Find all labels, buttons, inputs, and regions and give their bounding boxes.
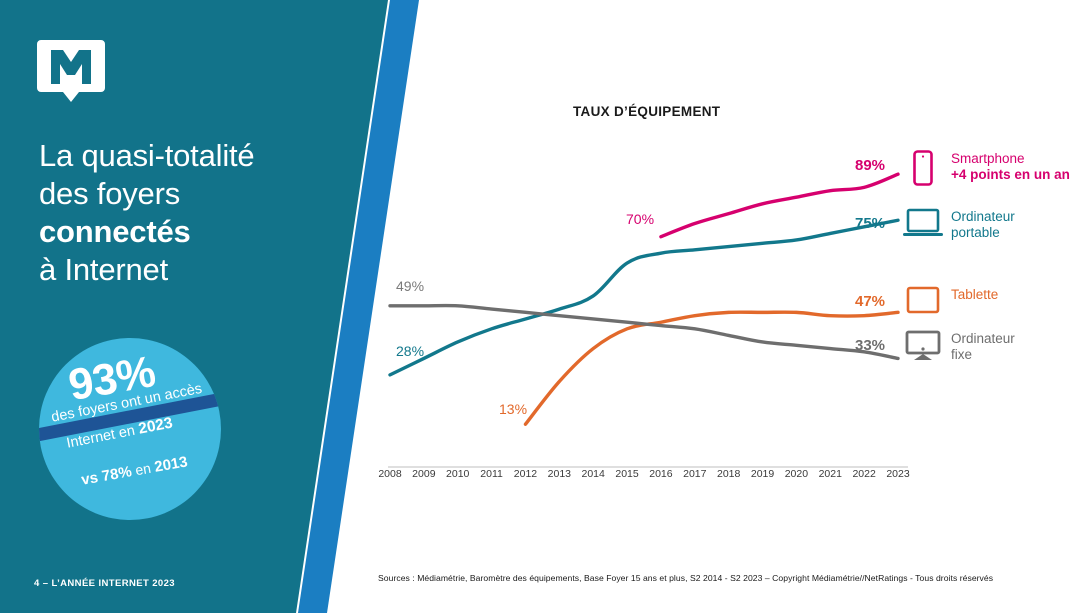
badge-line-3-prefix: vs bbox=[80, 468, 103, 488]
slide-number: 4 – L’ANNÉE INTERNET 2023 bbox=[34, 578, 175, 589]
headline-line-3: connectés bbox=[39, 213, 339, 251]
x-tick-label: 2023 bbox=[886, 468, 909, 480]
x-tick-label: 2016 bbox=[649, 468, 672, 480]
annotation-tablet-start: 13% bbox=[499, 401, 527, 417]
badge-line-3-year: 2013 bbox=[153, 453, 189, 476]
legend-item-tablet[interactable]: 47% Tablette bbox=[855, 284, 998, 314]
legend-value-laptop: 75% bbox=[855, 206, 901, 232]
legend-label-smartphone-sub: +4 points en un an bbox=[951, 167, 1070, 182]
x-tick-label: 2020 bbox=[785, 468, 808, 480]
legend-item-desktop[interactable]: 33% Ordinateur fixe bbox=[855, 328, 1015, 363]
legend-item-laptop[interactable]: 75% Ordinateur portable bbox=[855, 206, 1015, 241]
legend-label-desktop-line1: Ordinateur bbox=[951, 331, 1015, 347]
page-title: La quasi-totalité des foyers connectés à… bbox=[39, 137, 339, 289]
badge-text-group: 93% des foyers ont un accès Internet en … bbox=[39, 338, 221, 520]
slide-canvas: La quasi-totalité des foyers connectés à… bbox=[0, 0, 1091, 613]
chart-x-axis-labels: 2008200920102011201220132014201520162017… bbox=[380, 468, 910, 486]
x-tick-label: 2010 bbox=[446, 468, 469, 480]
x-tick-label: 2015 bbox=[615, 468, 638, 480]
x-tick-label: 2019 bbox=[751, 468, 774, 480]
headline-line-4: à Internet bbox=[39, 251, 339, 289]
laptop-icon bbox=[901, 206, 945, 238]
chart-title: TAUX D’ÉQUIPEMENT bbox=[573, 104, 720, 119]
x-tick-label: 2013 bbox=[548, 468, 571, 480]
legend-value-tablet: 47% bbox=[855, 284, 901, 310]
legend-label-laptop: Ordinateur portable bbox=[945, 206, 1015, 241]
badge-line-2-year: 2023 bbox=[137, 414, 174, 437]
sources-note: Sources : Médiamétrie, Baromètre des équ… bbox=[378, 573, 993, 583]
x-tick-label: 2012 bbox=[514, 468, 537, 480]
legend-label-laptop-line2: portable bbox=[951, 225, 1015, 241]
legend-label-tablet-main: Tablette bbox=[951, 287, 998, 303]
annotation-smartphone-start: 70% bbox=[626, 211, 654, 227]
x-tick-label: 2021 bbox=[819, 468, 842, 480]
x-tick-label: 2017 bbox=[683, 468, 706, 480]
x-tick-label: 2011 bbox=[480, 468, 503, 480]
badge-line-3: vs 78% en 2013 bbox=[80, 453, 189, 488]
legend-label-smartphone: Smartphone +4 points en un an bbox=[945, 148, 1070, 183]
chart-line-ordinateur-portable bbox=[390, 220, 898, 375]
line-chart bbox=[380, 130, 910, 490]
legend-label-desktop-line2: fixe bbox=[951, 347, 1015, 363]
mediametrie-logo bbox=[37, 36, 105, 106]
legend-label-smartphone-main: Smartphone bbox=[951, 151, 1070, 167]
legend-label-laptop-line1: Ordinateur bbox=[951, 209, 1015, 225]
legend-label-tablet: Tablette bbox=[945, 284, 998, 303]
badge-line-3-middle: en bbox=[130, 459, 156, 479]
headline-line-1: La quasi-totalité bbox=[39, 137, 339, 175]
legend-value-smartphone: 89% bbox=[855, 148, 901, 174]
legend-item-smartphone[interactable]: 89% Smartphone +4 points en un an bbox=[855, 148, 1070, 186]
headline-line-2: des foyers bbox=[39, 175, 339, 213]
badge-line-2-prefix: Internet en bbox=[65, 422, 140, 452]
smartphone-icon bbox=[901, 148, 945, 186]
legend-label-desktop: Ordinateur fixe bbox=[945, 328, 1015, 363]
chart-svg bbox=[380, 130, 910, 490]
chart-legend: 89% Smartphone +4 points en un an 75% bbox=[855, 140, 1091, 380]
x-tick-label: 2018 bbox=[717, 468, 740, 480]
desktop-monitor-icon bbox=[901, 328, 945, 362]
badge-line-3-value: 78% bbox=[101, 463, 134, 485]
tablet-icon bbox=[901, 284, 945, 314]
x-tick-label: 2008 bbox=[378, 468, 401, 480]
chart-line-tablette bbox=[525, 312, 898, 424]
x-tick-label: 2009 bbox=[412, 468, 435, 480]
annotation-laptop-start: 28% bbox=[396, 343, 424, 359]
stat-badge: 93% des foyers ont un accès Internet en … bbox=[39, 338, 221, 520]
x-tick-label: 2014 bbox=[582, 468, 605, 480]
legend-value-desktop: 33% bbox=[855, 328, 901, 354]
x-tick-label: 2022 bbox=[852, 468, 875, 480]
annotation-desktop-start: 49% bbox=[396, 278, 424, 294]
